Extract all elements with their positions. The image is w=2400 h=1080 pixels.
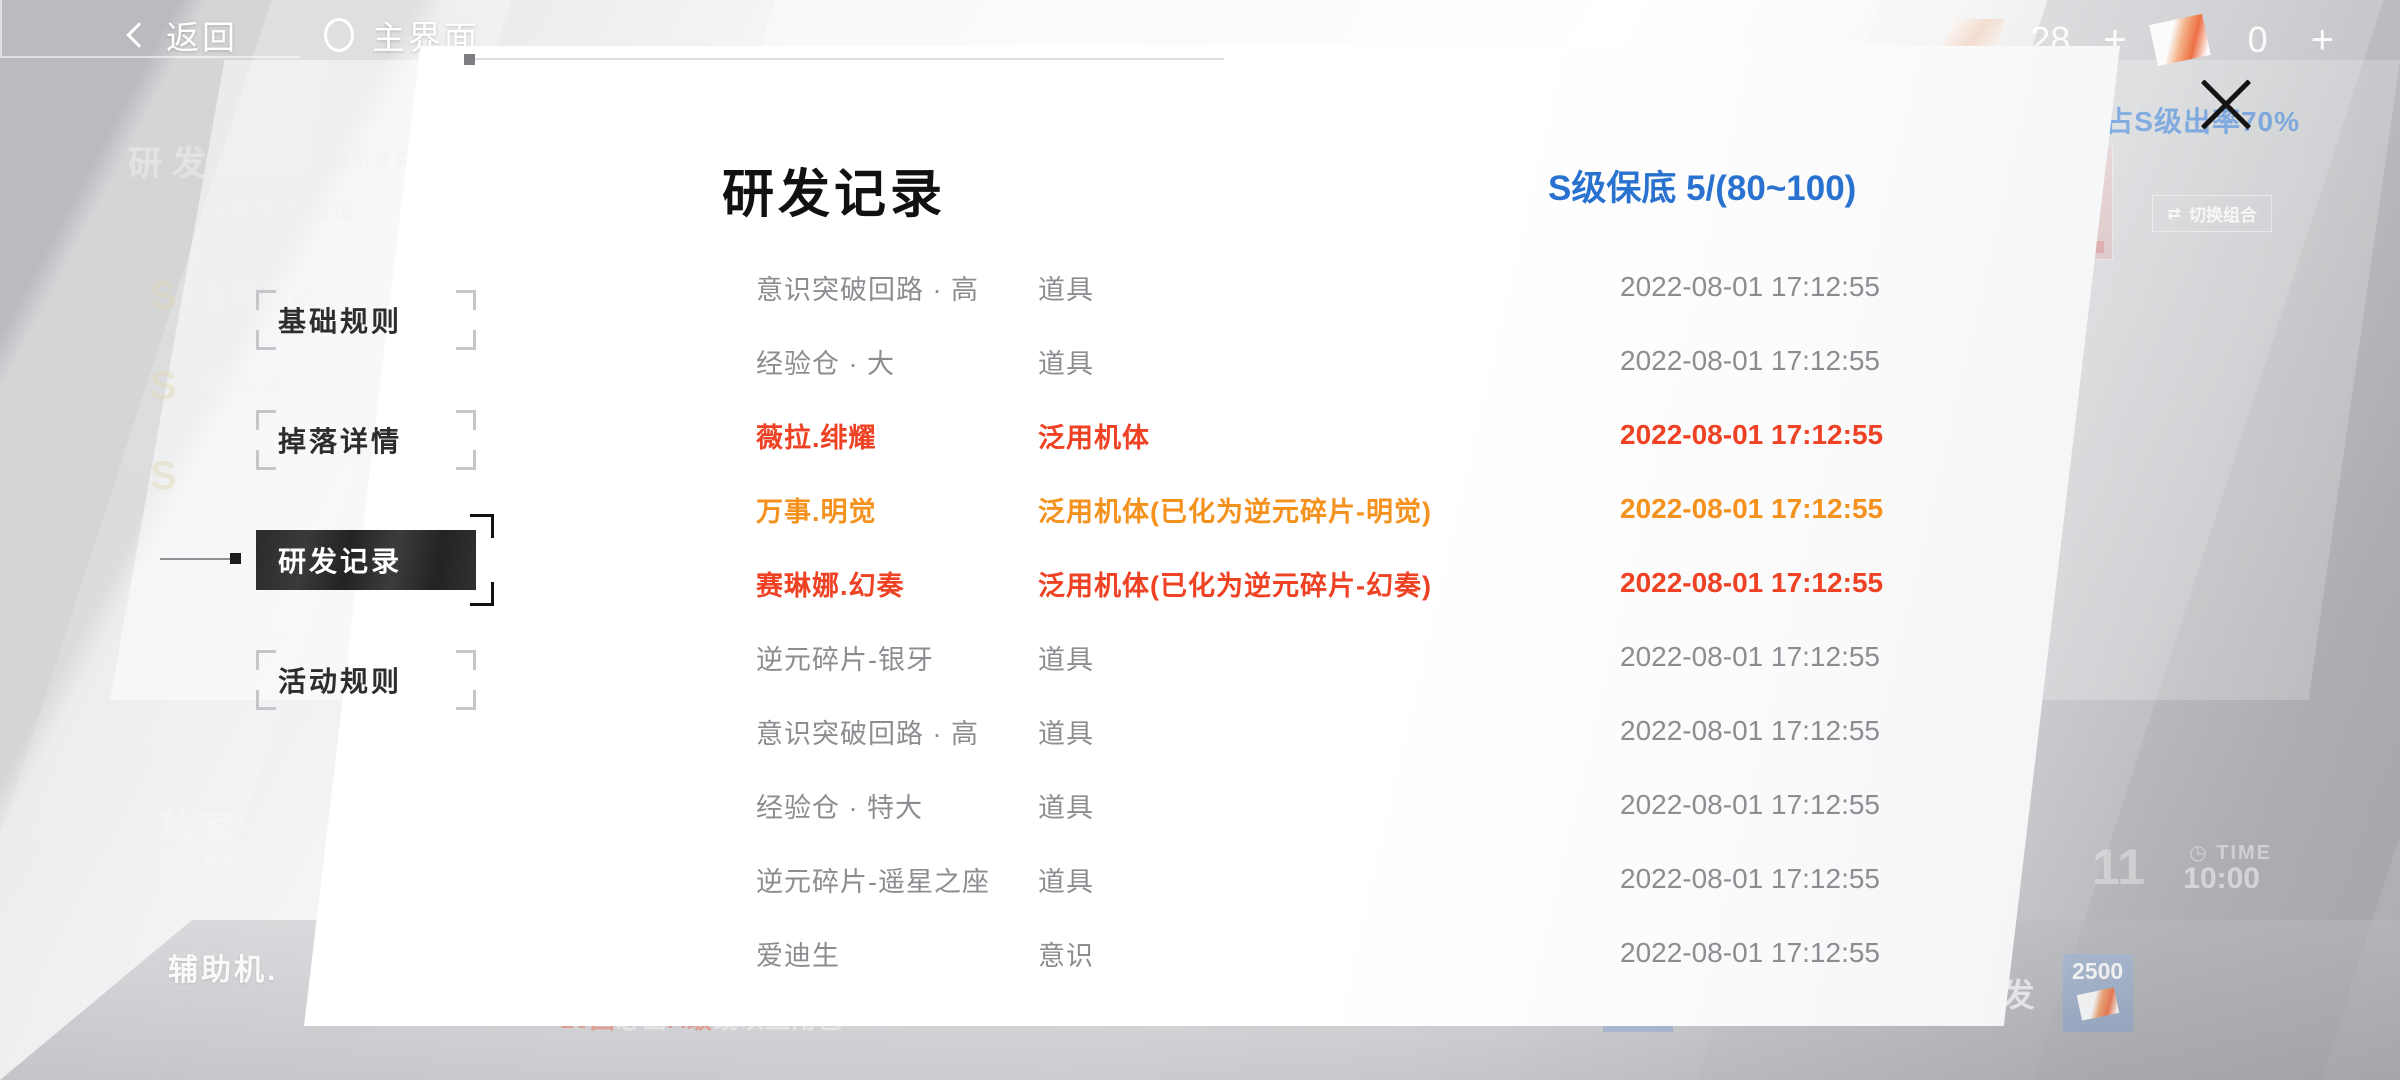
circle-icon	[324, 18, 354, 52]
record-type: 道具	[1038, 712, 1620, 751]
record-name: 意识突破回路 · 高	[756, 712, 1038, 751]
table-row: 逆元碎片-银牙道具2022-08-01 17:12:55	[756, 620, 1956, 694]
sidebar-item-event-rules[interactable]: 活动规则	[256, 650, 476, 710]
table-row: 爱迪生意识2022-08-01 17:12:55	[756, 916, 1956, 990]
table-row: 经验仓 · 特大道具2022-08-01 17:12:55	[756, 768, 1956, 842]
sidebar-item-drop-details[interactable]: 掉落详情	[256, 410, 476, 470]
page-title: 研发记录	[722, 152, 946, 227]
close-icon[interactable]	[2195, 73, 2257, 135]
bg-grade-badge: S	[150, 454, 177, 498]
record-type: 道具	[1038, 786, 1620, 825]
bg-time-label: ◷ TIME	[2189, 840, 2272, 865]
record-time: 2022-08-01 17:12:55	[1620, 715, 1956, 747]
back-button[interactable]: 返回	[130, 11, 238, 59]
record-type: 道具	[1038, 638, 1620, 677]
record-type: 道具	[1038, 860, 1620, 899]
sidebar-item-label: 研发记录	[278, 540, 402, 580]
corner-bracket-icon	[456, 650, 476, 670]
record-name: 爱迪生	[756, 934, 1038, 973]
sidebar-item-label: 基础规则	[278, 300, 402, 340]
ticket-icon	[2149, 14, 2211, 66]
record-time: 2022-08-01 17:12:55	[1620, 789, 1956, 821]
switch-combo-button[interactable]: ⇄ 切换组合	[2152, 195, 2272, 232]
record-type: 泛用机体(已化为逆元碎片-明觉)	[1038, 490, 1620, 529]
sidebar-item-label: 掉落详情	[278, 420, 402, 460]
table-row: 赛琳娜.幻奏泛用机体(已化为逆元碎片-幻奏)2022-08-01 17:12:5…	[756, 546, 1956, 620]
chevron-left-icon	[126, 22, 151, 47]
ticket-add-button[interactable]: +	[2311, 20, 2334, 60]
dialog-sidebar: 基础规则 掉落详情 研发记录 活动规则	[256, 290, 476, 770]
bg-grade-badge: S	[150, 364, 177, 408]
switch-combo-label: 切换组合	[2189, 201, 2257, 226]
pity-counter-label: S级保底 5/(80~100)	[1548, 160, 1856, 211]
bg-solo-title: 独家	[160, 800, 238, 848]
corner-bracket-icon	[456, 330, 476, 350]
record-name: 经验仓 · 大	[756, 342, 1038, 381]
pull-10-cost: 2500	[2063, 954, 2133, 1032]
record-type: 泛用机体	[1038, 416, 1620, 455]
record-type: 道具	[1038, 268, 1620, 307]
record-type: 意识	[1038, 934, 1620, 973]
pull-10-cost-value: 2500	[2072, 958, 2123, 985]
record-time: 2022-08-01 17:12:55	[1620, 567, 1956, 599]
record-time: 2022-08-01 17:12:55	[1620, 271, 1956, 303]
record-time: 2022-08-01 17:12:55	[1620, 863, 1956, 895]
corner-bracket-icon	[256, 290, 276, 310]
corner-bracket-icon	[256, 410, 276, 430]
record-name: 意识突破回路 · 高	[756, 268, 1038, 307]
bg-grade-badge: S	[150, 274, 177, 318]
corner-bracket-icon	[256, 690, 276, 710]
record-time: 2022-08-01 17:12:55	[1620, 345, 1956, 377]
swap-icon: ⇄	[2167, 204, 2181, 224]
table-row: 意识突破回路 · 高道具2022-08-01 17:12:55	[756, 250, 1956, 324]
corner-bracket-icon	[256, 450, 276, 470]
record-time: 2022-08-01 17:12:55	[1620, 641, 1956, 673]
corner-bracket-icon	[456, 690, 476, 710]
corner-bracket-icon	[456, 410, 476, 430]
corner-bracket-icon	[470, 514, 494, 538]
bg-count: 11	[2092, 838, 2145, 896]
record-name: 赛琳娜.幻奏	[756, 564, 1038, 603]
record-time: 2022-08-01 17:12:55	[1620, 937, 1956, 969]
currency-ticket[interactable]: 0 +	[2153, 19, 2360, 61]
bg-time-value: 10:00	[2183, 862, 2260, 896]
record-name: 薇拉.绯耀	[756, 416, 1038, 455]
ticket-icon	[2076, 987, 2119, 1020]
corner-bracket-icon	[470, 582, 494, 606]
record-table: 意识突破回路 · 高道具2022-08-01 17:12:55经验仓 · 大道具…	[756, 250, 1956, 990]
table-row: 万事.明觉泛用机体(已化为逆元碎片-明觉)2022-08-01 17:12:55	[756, 472, 1956, 546]
decor-dot	[464, 54, 475, 65]
top-navigation: 返回 主界面	[0, 0, 480, 70]
record-name: 逆元碎片-遥星之座	[756, 860, 1038, 899]
corner-bracket-icon	[256, 650, 276, 670]
corner-bracket-icon	[256, 330, 276, 350]
record-time: 2022-08-01 17:12:55	[1620, 419, 1956, 451]
corner-bracket-icon	[456, 290, 476, 310]
record-time: 2022-08-01 17:12:55	[1620, 493, 1956, 525]
record-name: 万事.明觉	[756, 490, 1038, 529]
bg-solo-sub: 独家新机体	[160, 845, 265, 872]
back-label: 返回	[166, 11, 238, 59]
table-row: 意识突破回路 · 高道具2022-08-01 17:12:55	[756, 694, 1956, 768]
sidebar-item-label: 活动规则	[278, 660, 402, 700]
record-type: 泛用机体(已化为逆元碎片-幻奏)	[1038, 564, 1620, 603]
ticket-value: 0	[2221, 19, 2295, 61]
active-marker-dot	[230, 553, 241, 564]
sidebar-item-research-record[interactable]: 研发记录	[256, 530, 476, 590]
active-leader-line	[160, 558, 236, 560]
sidebar-item-basic-rules[interactable]: 基础规则	[256, 290, 476, 350]
record-type: 道具	[1038, 342, 1620, 381]
table-row: 逆元碎片-遥星之座道具2022-08-01 17:12:55	[756, 842, 1956, 916]
bg-type-option-3: S	[150, 454, 201, 499]
table-row: 薇拉.绯耀泛用机体2022-08-01 17:12:55	[756, 398, 1956, 472]
corner-bracket-icon	[456, 450, 476, 470]
record-name: 逆元碎片-银牙	[756, 638, 1038, 677]
decor-line	[464, 58, 1224, 60]
table-row: 经验仓 · 大道具2022-08-01 17:12:55	[756, 324, 1956, 398]
record-name: 经验仓 · 特大	[756, 786, 1038, 825]
